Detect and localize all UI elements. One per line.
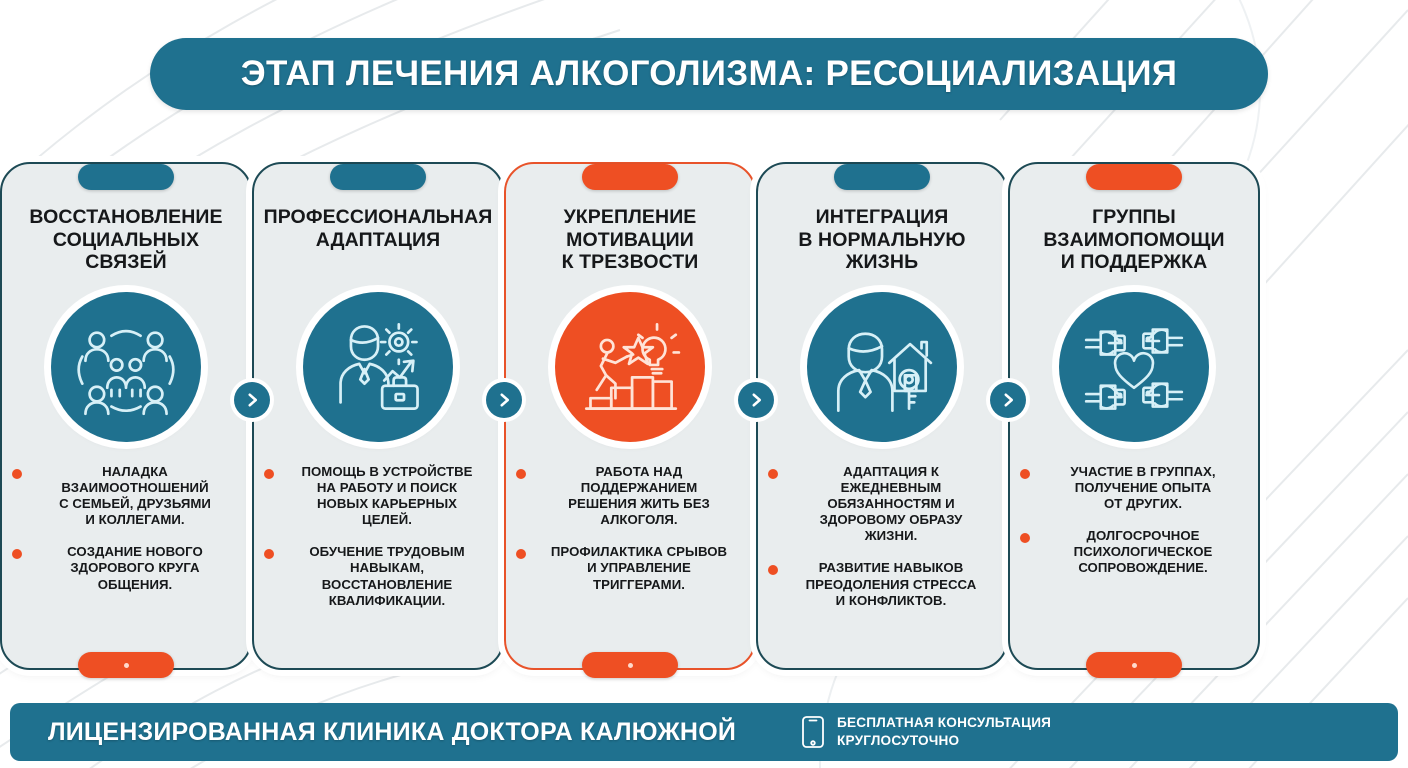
bullet-item: ДОЛГОСРОЧНОЕ ПСИХОЛОГИЧЕСКОЕ СОПРОВОЖДЕН…	[1020, 528, 1248, 576]
chevron-right-icon	[747, 391, 765, 409]
card-icon-circle-2	[303, 292, 453, 442]
consultation-block[interactable]: БЕСПЛАТНАЯ КОНСУЛЬТАЦИЯ КРУГЛОСУТОЧНО	[801, 714, 1051, 750]
stage-card-4[interactable]: ИНТЕГРАЦИЯ В НОРМАЛЬНУЮ ЖИЗНЬ	[756, 162, 1008, 670]
card-bottom-tab-1	[78, 652, 174, 678]
stage-card-5[interactable]: ГРУППЫ ВЗАИМОПОМОЩИ И ПОДДЕРЖКА	[1008, 162, 1260, 670]
bullet-dot-icon	[768, 469, 778, 479]
bullet-item: УЧАСТИЕ В ГРУППАХ, ПОЛУЧЕНИЕ ОПЫТА ОТ ДР…	[1020, 464, 1248, 512]
motivation-stairs-icon	[578, 315, 682, 419]
tab-dot-icon	[628, 663, 633, 668]
card-top-tab-1	[78, 164, 174, 190]
stage-connector-1	[234, 382, 270, 418]
card-bullets-1: НАЛАДКА ВЗАИМООТНОШЕНИЙ С СЕМЬЕЙ, ДРУЗЬЯ…	[12, 464, 240, 593]
stage-connector-2	[486, 382, 522, 418]
card-bullets-2: ПОМОЩЬ В УСТРОЙСТВЕ НА РАБОТУ И ПОИСК НО…	[264, 464, 492, 609]
card-title-3: УКРЕПЛЕНИЕ МОТИВАЦИИ К ТРЕЗВОСТИ	[562, 206, 699, 278]
hands-heart-icon	[1082, 315, 1186, 419]
card-icon-circle-1	[51, 292, 201, 442]
bullet-dot-icon	[516, 469, 526, 479]
stage-card-wrapper-3: УКРЕПЛЕНИЕ МОТИВАЦИИ К ТРЕЗВОСТИ	[504, 150, 756, 670]
card-bottom-tab-5	[1086, 652, 1182, 678]
chevron-right-icon	[243, 391, 261, 409]
stage-connector-3	[738, 382, 774, 418]
card-title-4: ИНТЕГРАЦИЯ В НОРМАЛЬНУЮ ЖИЗНЬ	[798, 206, 965, 278]
stages-strip: ВОССТАНОВЛЕНИЕ СОЦИАЛЬНЫХ СВЯЗЕЙ	[0, 150, 1408, 695]
bullet-dot-icon	[768, 565, 778, 575]
bullet-text: СОЗДАНИЕ НОВОГО ЗДОРОВОГО КРУГА ОБЩЕНИЯ.	[30, 544, 240, 592]
clinic-name: ЛИЦЕНЗИРОВАННАЯ КЛИНИКА ДОКТОРА КАЛЮЖНОЙ	[48, 718, 736, 747]
stage-card-3[interactable]: УКРЕПЛЕНИЕ МОТИВАЦИИ К ТРЕЗВОСТИ	[504, 162, 756, 670]
mobile-phone-icon	[801, 715, 825, 749]
bullet-text: УЧАСТИЕ В ГРУППАХ, ПОЛУЧЕНИЕ ОПЫТА ОТ ДР…	[1038, 464, 1248, 512]
bullet-item: АДАПТАЦИЯ К ЕЖЕДНЕВНЫМ ОБЯЗАННОСТЯМ И ЗД…	[768, 464, 996, 544]
stage-card-wrapper-1: ВОССТАНОВЛЕНИЕ СОЦИАЛЬНЫХ СВЯЗЕЙ	[0, 150, 252, 670]
bullet-dot-icon	[12, 469, 22, 479]
consultation-text: БЕСПЛАТНАЯ КОНСУЛЬТАЦИЯ КРУГЛОСУТОЧНО	[837, 714, 1051, 750]
bullet-dot-icon	[264, 549, 274, 559]
page-title: ЭТАП ЛЕЧЕНИЯ АЛКОГОЛИЗМА: РЕСОЦИАЛИЗАЦИЯ	[241, 54, 1178, 94]
card-icon-circle-5	[1059, 292, 1209, 442]
stage-card-1[interactable]: ВОССТАНОВЛЕНИЕ СОЦИАЛЬНЫХ СВЯЗЕЙ	[0, 162, 252, 670]
card-bottom-tab-3	[582, 652, 678, 678]
bullet-dot-icon	[1020, 469, 1030, 479]
stage-connector-4	[990, 382, 1026, 418]
bullet-item: ПРОФИЛАКТИКА СРЫВОВ И УПРАВЛЕНИЕ ТРИГГЕР…	[516, 544, 744, 592]
card-icon-circle-3	[555, 292, 705, 442]
card-top-tab-4	[834, 164, 930, 190]
card-top-tab-5	[1086, 164, 1182, 190]
people-network-icon	[74, 315, 178, 419]
stage-card-wrapper-2: ПРОФЕССИОНАЛЬНАЯ АДАПТАЦИЯ	[252, 150, 504, 670]
career-growth-icon	[326, 315, 430, 419]
stage-card-wrapper-5: ГРУППЫ ВЗАИМОПОМОЩИ И ПОДДЕРЖКА	[1008, 150, 1260, 670]
bullet-text: ПРОФИЛАКТИКА СРЫВОВ И УПРАВЛЕНИЕ ТРИГГЕР…	[534, 544, 744, 592]
bullet-text: РАЗВИТИЕ НАВЫКОВ ПРЕОДОЛЕНИЯ СТРЕССА И К…	[786, 560, 996, 608]
card-title-1: ВОССТАНОВЛЕНИЕ СОЦИАЛЬНЫХ СВЯЗЕЙ	[29, 206, 222, 278]
card-bullets-5: УЧАСТИЕ В ГРУППАХ, ПОЛУЧЕНИЕ ОПЫТА ОТ ДР…	[1020, 464, 1248, 577]
bullet-dot-icon	[516, 549, 526, 559]
card-bullets-3: РАБОТА НАД ПОДДЕРЖАНИЕМ РЕШЕНИЯ ЖИТЬ БЕЗ…	[516, 464, 744, 593]
card-icon-circle-4	[807, 292, 957, 442]
chevron-right-icon	[495, 391, 513, 409]
tab-dot-icon	[124, 663, 129, 668]
card-top-tab-2	[330, 164, 426, 190]
bullet-text: РАБОТА НАД ПОДДЕРЖАНИЕМ РЕШЕНИЯ ЖИТЬ БЕЗ…	[534, 464, 744, 528]
bullet-text: ПОМОЩЬ В УСТРОЙСТВЕ НА РАБОТУ И ПОИСК НО…	[282, 464, 492, 528]
card-bullets-4: АДАПТАЦИЯ К ЕЖЕДНЕВНЫМ ОБЯЗАННОСТЯМ И ЗД…	[768, 464, 996, 609]
bullet-item: РАБОТА НАД ПОДДЕРЖАНИЕМ РЕШЕНИЯ ЖИТЬ БЕЗ…	[516, 464, 744, 528]
home-key-person-icon	[830, 315, 934, 419]
bullet-item: ПОМОЩЬ В УСТРОЙСТВЕ НА РАБОТУ И ПОИСК НО…	[264, 464, 492, 528]
bullet-item: НАЛАДКА ВЗАИМООТНОШЕНИЙ С СЕМЬЕЙ, ДРУЗЬЯ…	[12, 464, 240, 528]
bullet-item: СОЗДАНИЕ НОВОГО ЗДОРОВОГО КРУГА ОБЩЕНИЯ.	[12, 544, 240, 592]
bullet-text: АДАПТАЦИЯ К ЕЖЕДНЕВНЫМ ОБЯЗАННОСТЯМ И ЗД…	[786, 464, 996, 544]
card-title-5: ГРУППЫ ВЗАИМОПОМОЩИ И ПОДДЕРЖКА	[1043, 206, 1224, 278]
bullet-item: ОБУЧЕНИЕ ТРУДОВЫМ НАВЫКАМ, ВОССТАНОВЛЕНИ…	[264, 544, 492, 608]
chevron-right-icon	[999, 391, 1017, 409]
bullet-dot-icon	[1020, 533, 1030, 543]
bullet-text: ДОЛГОСРОЧНОЕ ПСИХОЛОГИЧЕСКОЕ СОПРОВОЖДЕН…	[1038, 528, 1248, 576]
stage-card-2[interactable]: ПРОФЕССИОНАЛЬНАЯ АДАПТАЦИЯ	[252, 162, 504, 670]
footer-banner: ЛИЦЕНЗИРОВАННАЯ КЛИНИКА ДОКТОРА КАЛЮЖНОЙ…	[10, 703, 1398, 761]
bullet-text: НАЛАДКА ВЗАИМООТНОШЕНИЙ С СЕМЬЕЙ, ДРУЗЬЯ…	[30, 464, 240, 528]
tab-dot-icon	[1132, 663, 1137, 668]
bullet-text: ОБУЧЕНИЕ ТРУДОВЫМ НАВЫКАМ, ВОССТАНОВЛЕНИ…	[282, 544, 492, 608]
card-title-2: ПРОФЕССИОНАЛЬНАЯ АДАПТАЦИЯ	[264, 206, 493, 278]
stage-card-wrapper-4: ИНТЕГРАЦИЯ В НОРМАЛЬНУЮ ЖИЗНЬ	[756, 150, 1008, 670]
bullet-dot-icon	[12, 549, 22, 559]
bullet-dot-icon	[264, 469, 274, 479]
header-banner: ЭТАП ЛЕЧЕНИЯ АЛКОГОЛИЗМА: РЕСОЦИАЛИЗАЦИЯ	[150, 38, 1268, 110]
card-top-tab-3	[582, 164, 678, 190]
bullet-item: РАЗВИТИЕ НАВЫКОВ ПРЕОДОЛЕНИЯ СТРЕССА И К…	[768, 560, 996, 608]
